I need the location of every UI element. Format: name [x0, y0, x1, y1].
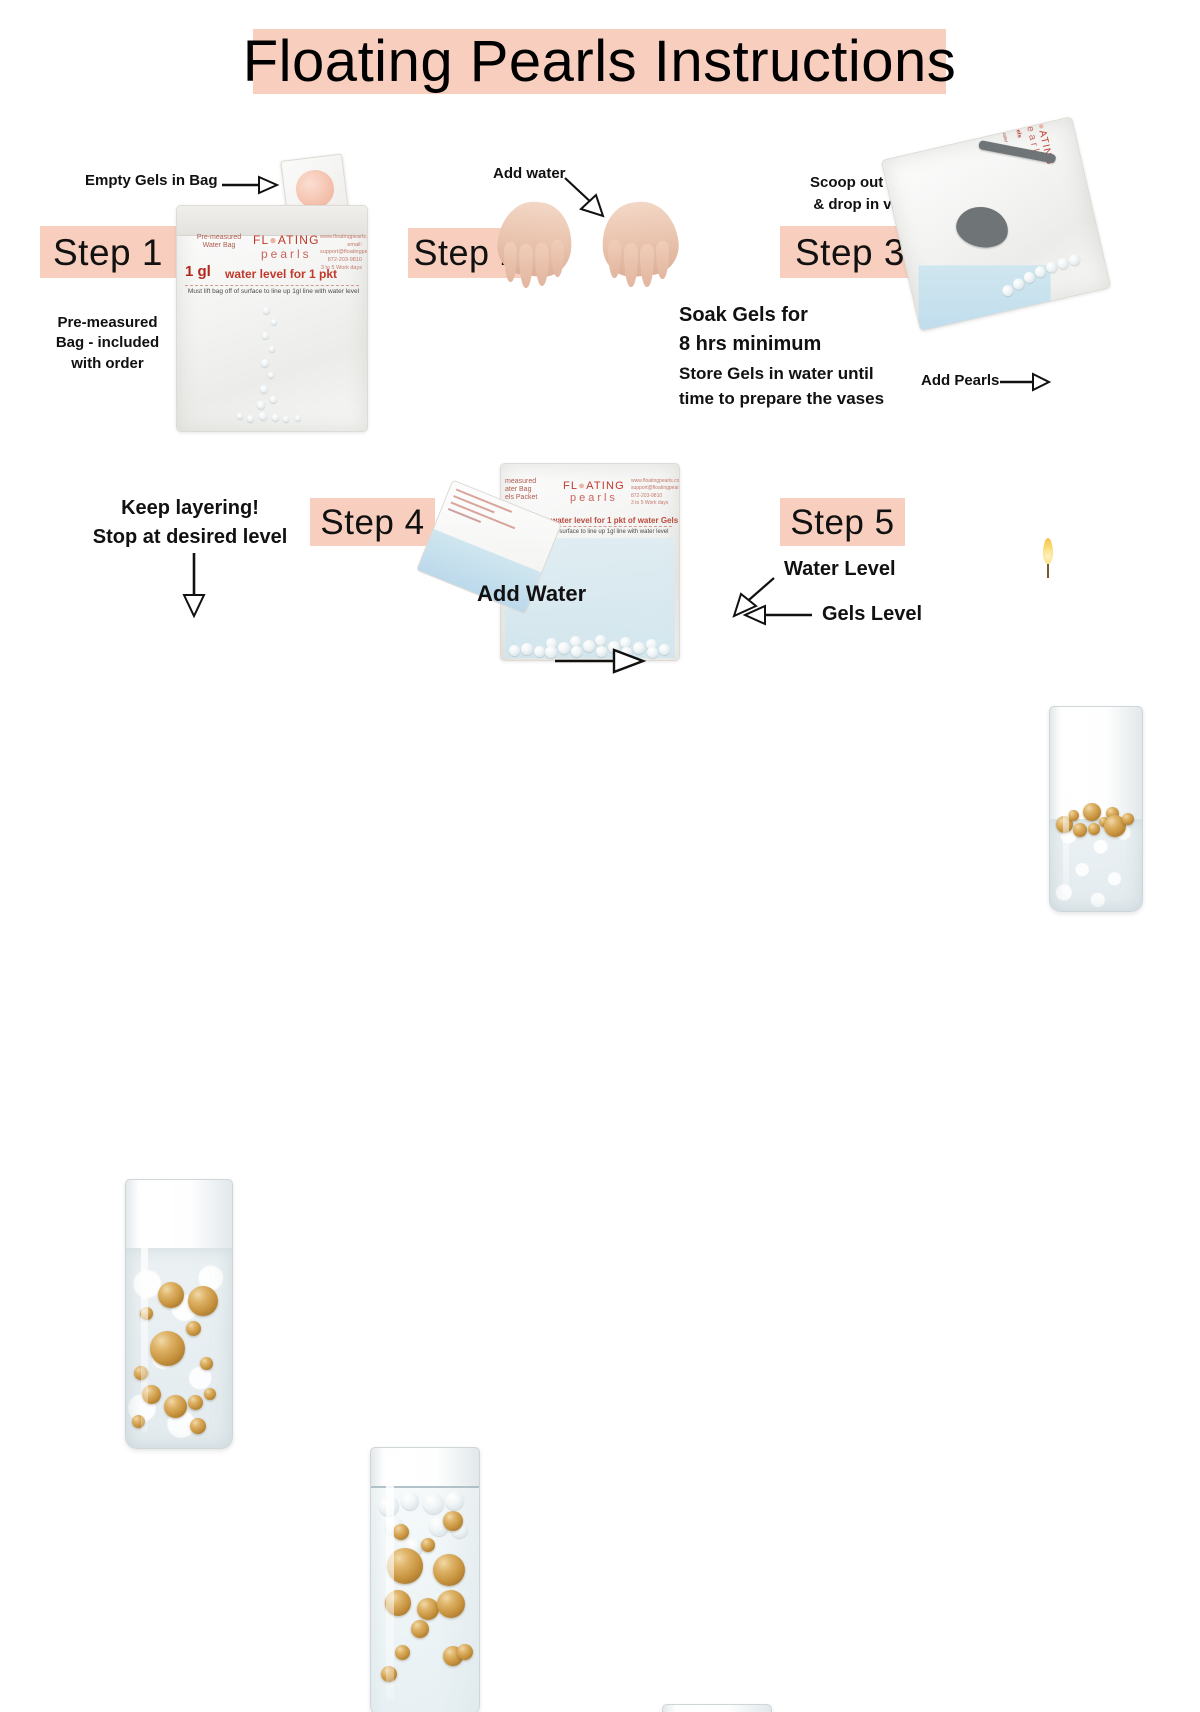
- finger: [656, 241, 669, 279]
- gold-pearl: [150, 1331, 185, 1366]
- bag-contact-1: email:: [320, 242, 362, 250]
- step-4-layered-pearls: [126, 1248, 232, 1448]
- soak-heading-line-2: 8 hrs minimum: [679, 332, 821, 357]
- bag-contact-2: support@floatingpearls.com: [320, 249, 362, 257]
- gels-level-arrow-left-icon: [742, 605, 814, 625]
- finger: [551, 240, 564, 277]
- bead: [237, 413, 243, 419]
- bead: [271, 319, 277, 325]
- step-3-vase: [1049, 706, 1143, 912]
- bag2-water-level-text: water level for 1 pkt of water Gels: [551, 516, 678, 525]
- step-5-badge-label: Step 5: [790, 505, 894, 540]
- gold-pearl: [186, 1321, 201, 1336]
- bag2-brand-top-a: FL: [563, 480, 578, 492]
- add-pearls-label: Add Pearls: [921, 372, 999, 389]
- step-5-vase: [662, 1704, 772, 1712]
- step-1-left-annotation: Pre-measured Bag - included with order: [40, 313, 175, 374]
- step-4-watered-vase: [370, 1447, 480, 1712]
- add-water-label: Add Water: [477, 581, 586, 606]
- bag2-line3: els Packet: [505, 494, 559, 502]
- gold-pearl: [132, 1415, 145, 1428]
- step-1-left-line-1: Pre-measured: [40, 313, 175, 333]
- step-2-store-body: Store Gels in water until time to prepar…: [679, 363, 884, 410]
- bag2-contact: www.floatingpearls.com support@floatingp…: [631, 478, 673, 507]
- bag2-contact-2: 872-203-9810: [631, 493, 673, 500]
- bag-brand-top: FL●ATING: [253, 233, 320, 247]
- finger: [535, 243, 549, 286]
- step-3-tilted-bag-group: measured ater Bag els Packet FL●ATING pe…: [881, 116, 1112, 332]
- finger: [640, 244, 654, 287]
- bead: [295, 415, 301, 421]
- gels-level-label: Gels Level: [822, 603, 922, 625]
- step-1-water-bag: Pre-measured Water Bag FL●ATING pearls w…: [176, 205, 368, 432]
- step-1-left-line-2: Bag - included: [40, 333, 175, 353]
- gold-pearl: [200, 1357, 213, 1370]
- step-4-watered-pearls: [371, 1486, 479, 1712]
- step-2-top-annotation: Add water: [493, 165, 566, 184]
- gold-pearl: [411, 1620, 429, 1638]
- step-1-top-annotation-label: Empty Gels in Bag: [85, 172, 218, 189]
- bead: [268, 372, 274, 378]
- step-2-top-annotation-label: Add water: [493, 165, 566, 182]
- bag-brand-bottom: pearls: [253, 247, 320, 261]
- gold-pearl: [417, 1598, 439, 1620]
- store-body-line-2: time to prepare the vases: [679, 388, 884, 409]
- bead: [534, 646, 545, 657]
- bead: [1068, 253, 1081, 266]
- bead: [659, 644, 670, 655]
- bag-label-premeasured: Pre-measured Water Bag: [190, 234, 248, 250]
- finger: [504, 242, 517, 282]
- bead: [257, 401, 265, 409]
- step-2-hands: [498, 196, 678, 301]
- gel-packet-sticker: [294, 168, 335, 209]
- add-pearls-arrow-right-icon: [1000, 373, 1050, 391]
- gold-pearl: [393, 1524, 409, 1540]
- bag2-brand-top-b: ATING: [586, 480, 625, 492]
- bag2-brand: FL●ATING pearls: [563, 480, 625, 504]
- page-title-banner: Floating Pearls Instructions: [253, 29, 946, 94]
- gold-pearl: [381, 1666, 397, 1682]
- finger: [519, 244, 533, 288]
- soak-heading-line-1: Soak Gels for: [679, 303, 821, 328]
- step-4-layered-vase: [125, 1179, 233, 1449]
- gold-pearl: [204, 1388, 216, 1400]
- step-4-add-water-annotation: Add Water: [477, 580, 586, 608]
- step-3-pearls: [1050, 789, 1142, 837]
- step-4-badge: Step 4: [310, 498, 435, 546]
- bag2-contact-0: www.floatingpearls.com: [631, 478, 673, 485]
- empty-gels-arrow-right-icon: [222, 176, 278, 194]
- gold-pearl: [164, 1395, 187, 1418]
- step-3-badge-label: Step 3: [795, 234, 905, 271]
- step-transition-arrow-right-icon: [555, 648, 645, 674]
- step-4-left-annotation: Keep layering! Stop at desired level: [70, 496, 310, 550]
- keep-layering-line-2: Stop at desired level: [70, 525, 310, 550]
- bead: [272, 414, 279, 421]
- bead: [270, 396, 277, 403]
- step-1-left-line-3: with order: [40, 354, 175, 374]
- step-3-add-pearls-annotation: Add Pearls: [921, 372, 999, 391]
- candle-flame: [1043, 538, 1053, 564]
- bead: [283, 416, 289, 422]
- keep-layering-arrow-down-icon: [181, 553, 207, 617]
- bead: [595, 635, 606, 646]
- bag3-fine-print: Must lift bag off of surface to line up …: [970, 116, 1009, 144]
- bead: [261, 359, 269, 367]
- bag2-line2: ater Bag: [505, 486, 559, 494]
- bag-brand-top-a: FL: [253, 233, 269, 247]
- page-title: Floating Pearls Instructions: [243, 28, 957, 95]
- finger: [624, 243, 638, 287]
- bag2-label-lines: measured ater Bag els Packet: [505, 478, 559, 502]
- gold-pearl: [140, 1307, 153, 1320]
- gold-pearl: [188, 1286, 218, 1316]
- gold-pearl: [395, 1645, 410, 1660]
- bag2-line1: measured: [505, 478, 559, 486]
- gold-pearl: [134, 1366, 148, 1380]
- gold-pearl: [443, 1511, 463, 1531]
- bead: [247, 415, 254, 422]
- store-body-line-1: Store Gels in water until: [679, 363, 884, 384]
- bead: [509, 645, 520, 656]
- bead: [260, 385, 268, 393]
- bead: [1012, 277, 1025, 290]
- bead: [1045, 260, 1058, 273]
- step-5-water-level-annotation: Water Level: [784, 557, 896, 582]
- step-1-top-annotation: Empty Gels in Bag: [85, 172, 218, 191]
- bag2-brand-top: FL●ATING: [563, 480, 625, 492]
- step-5-badge: Step 5: [780, 498, 905, 546]
- step-5-gels-level-annotation: Gels Level: [822, 602, 922, 627]
- bag2-contact-3: 3 to 5 Work days: [631, 500, 673, 507]
- gold-pearl: [437, 1590, 465, 1618]
- bag2-brand-bottom: pearls: [563, 492, 625, 504]
- bead: [1023, 271, 1036, 284]
- gold-pearl: [188, 1395, 203, 1410]
- bead: [259, 412, 267, 420]
- step-2-soak-heading: Soak Gels for 8 hrs minimum: [679, 303, 821, 357]
- bag-zip-top: [177, 206, 367, 236]
- bag-volume: 1 gl: [185, 263, 211, 280]
- bag2-contact-1: support@floatingpearls.com: [631, 485, 673, 492]
- bag-label-line1: Pre-measured: [190, 234, 248, 242]
- gold-pearl: [158, 1282, 184, 1308]
- bag-fill-dashline: [185, 285, 360, 286]
- gold-pearl: [1088, 823, 1100, 835]
- bead: [1056, 257, 1069, 270]
- bag-contact-0: www.floatingpearls.com: [320, 234, 362, 242]
- bead: [263, 307, 270, 314]
- bead: [521, 643, 533, 655]
- step-1-badge: Step 1: [40, 226, 176, 278]
- gold-pearl: [190, 1418, 206, 1434]
- bag-fine-print: Must lift bag off of surface to line up …: [186, 288, 361, 295]
- water-level-label: Water Level: [784, 558, 896, 580]
- step-1-badge-label: Step 1: [53, 234, 163, 271]
- bag-brand-top-b: ATING: [278, 233, 320, 247]
- bag-brand: FL●ATING pearls: [253, 233, 320, 261]
- gold-pearl: [387, 1548, 423, 1584]
- step-4-badge-label: Step 4: [320, 505, 424, 540]
- keep-layering-line-1: Keep layering!: [70, 496, 310, 521]
- gold-pearl: [142, 1385, 161, 1404]
- bag-contact-3: 872-203-9810: [320, 257, 362, 265]
- gold-pearl: [421, 1538, 435, 1552]
- bag-gel-beads: [177, 301, 367, 426]
- gold-pearl: [457, 1644, 473, 1660]
- bag-label-line2: Water Bag: [190, 242, 248, 250]
- bead: [269, 346, 275, 352]
- gold-pearl: [1073, 823, 1087, 837]
- bead: [647, 647, 658, 658]
- bead: [262, 332, 269, 339]
- gold-pearl: [433, 1554, 465, 1586]
- gold-pearl: [1122, 813, 1134, 825]
- bag-water-level-text: water level for 1 pkt: [225, 267, 337, 281]
- gold-pearl: [1068, 810, 1079, 821]
- gold-pearl: [385, 1590, 411, 1616]
- gold-pearl: [1083, 803, 1101, 821]
